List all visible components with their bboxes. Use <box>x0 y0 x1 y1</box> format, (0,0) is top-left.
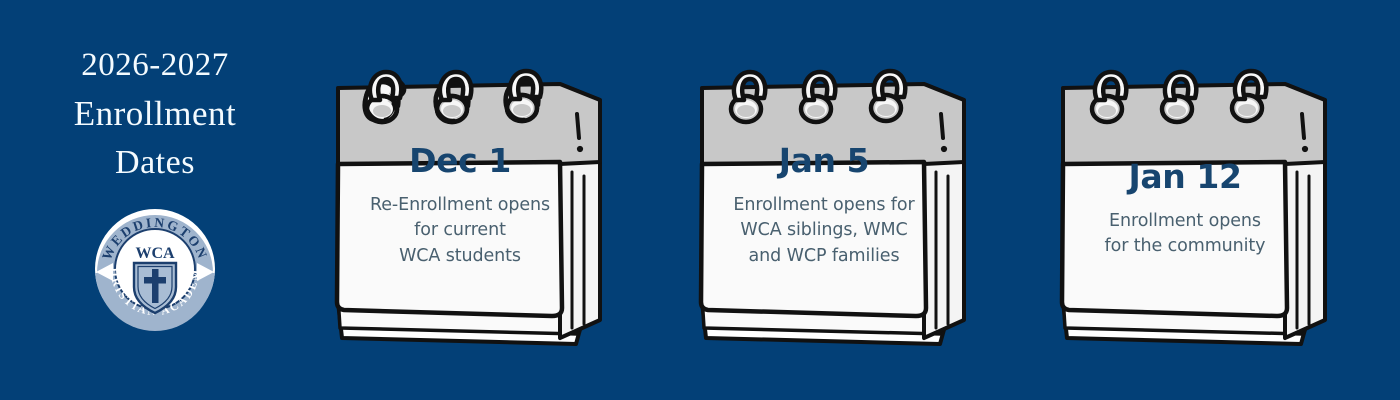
enrollment-dates-banner: 2026-2027 Enrollment Dates <box>0 0 1400 400</box>
school-logo: WEDDINGTON CHRISTIAN ACADEMY WCA <box>89 203 221 335</box>
calendar-card-jan-5: Jan 5 Enrollment opens for WCA siblings,… <box>688 52 980 352</box>
page-title-line-year: 2026-2027 <box>81 42 229 89</box>
page-title-line-enrollment: Enrollment <box>74 89 236 139</box>
logo-monogram: WCA <box>135 245 175 262</box>
page-title-line-dates: Dates <box>115 139 195 187</box>
title-block: 2026-2027 Enrollment Dates <box>0 0 310 400</box>
calendar-cards-row: Dec 1 Re-Enrollment opens for current WC… <box>322 0 1400 400</box>
calendar-card-jan-12: Jan 12 Enrollment opens for the communit… <box>1049 52 1341 352</box>
calendar-card-dec-1: Dec 1 Re-Enrollment opens for current WC… <box>324 52 616 352</box>
